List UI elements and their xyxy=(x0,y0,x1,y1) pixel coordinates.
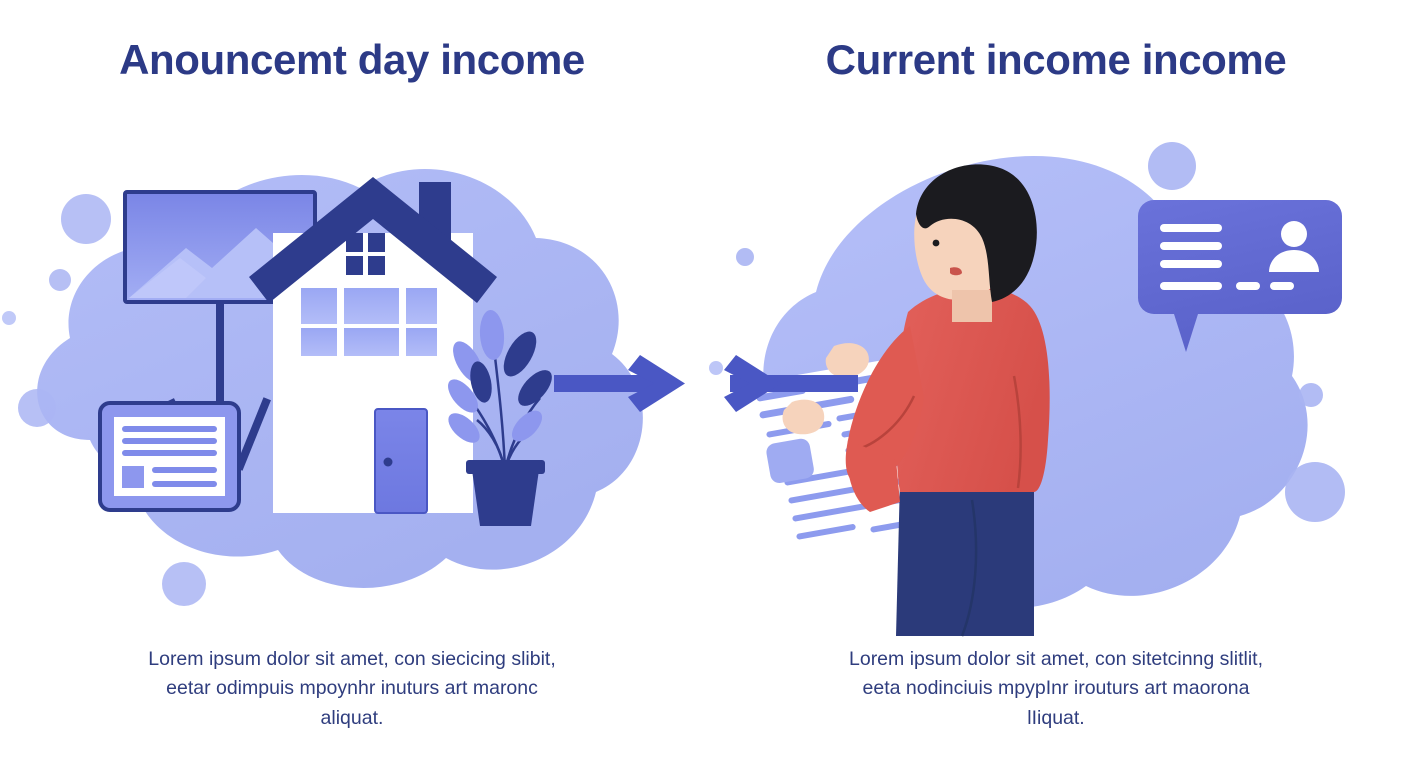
panel-title-right: Current income income xyxy=(704,38,1408,83)
house-windows xyxy=(301,288,437,356)
flow-arrows xyxy=(540,345,870,425)
tablet-card xyxy=(100,403,239,510)
person-trousers xyxy=(896,480,1034,636)
infographic-canvas: Anouncemt day income xyxy=(0,0,1408,768)
arrow-right-second xyxy=(724,355,858,412)
panel-caption-left: Lorem ipsum dolor sit amet, con siecicin… xyxy=(0,645,704,733)
arrow-right-first xyxy=(554,355,685,412)
panel-title-left: Anouncemt day income xyxy=(0,38,704,83)
panel-caption-right: Lorem ipsum dolor sit amet, con sitetcin… xyxy=(704,645,1408,733)
person-eye xyxy=(933,240,940,247)
house-door xyxy=(375,409,427,513)
